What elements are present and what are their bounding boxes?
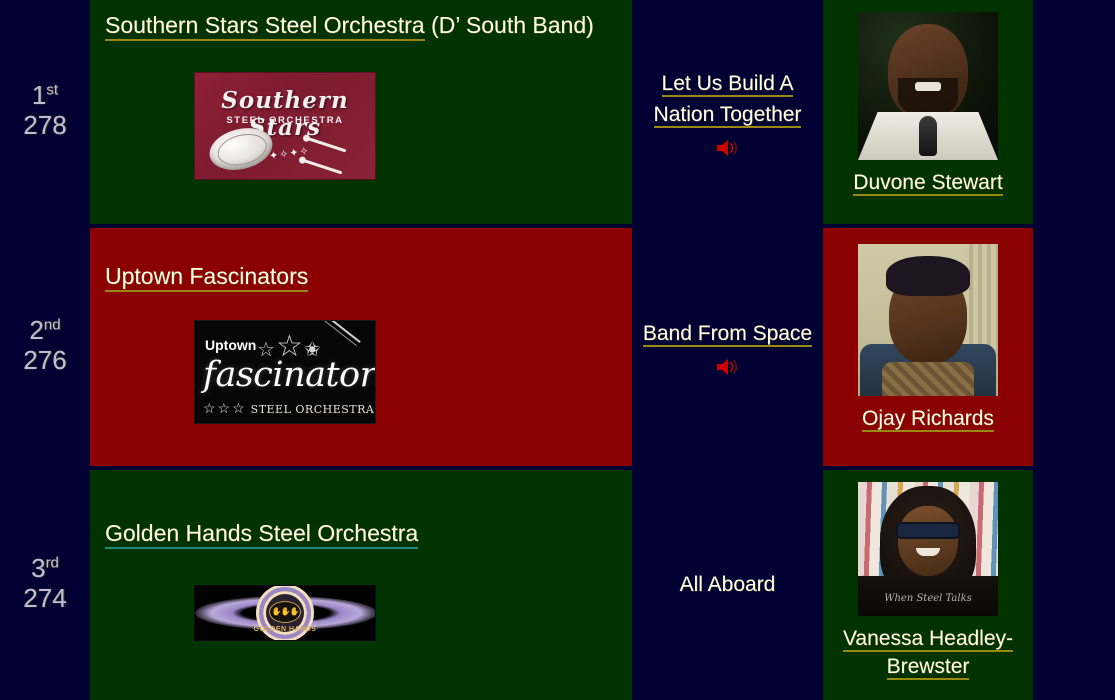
uptown-logo-main-text: fascinators	[203, 355, 376, 395]
tune-title-wrap-3: All Aboard	[680, 569, 776, 601]
golden-hands-logo-word: GOLDEN HANDS	[254, 626, 317, 633]
tune-title-3: All Aboard	[680, 573, 776, 596]
rank-score-1: 278	[23, 109, 66, 142]
speaker-icon[interactable]	[715, 139, 741, 157]
arranger-panel-2: Ojay Richards	[823, 228, 1033, 466]
band-name-3: Golden Hands Steel Orchestra	[105, 520, 418, 547]
streak-icon	[323, 320, 360, 343]
results-row-1: 1st 278 Southern Stars Steel Orchestra (…	[0, 0, 1115, 224]
results-row-3: 3rd 274 Golden Hands Steel Orchestra ✋✋✋…	[0, 470, 1115, 700]
southern-stars-logo: Southern Stars STEEL ORCHESTRA ✦✧✦✧	[194, 72, 376, 180]
rank-place-2: 2nd	[29, 317, 60, 344]
duvone-stewart-photo	[858, 12, 998, 160]
arranger-name-wrap-1: Duvone Stewart	[853, 169, 1002, 197]
arranger-name-wrap-3: Vanessa Headley-Brewster	[828, 625, 1028, 682]
band-name-link-3[interactable]: Golden Hands Steel Orchestra	[105, 520, 418, 549]
sunglasses-icon	[896, 522, 960, 539]
uptown-logo-bottom-text: STEEL ORCHESTRA	[251, 403, 375, 416]
uptown-fascinators-logo: Uptown ☆☆✬ fascinators ☆☆☆ STEEL ORCHEST…	[194, 320, 376, 424]
results-board: 1st 278 Southern Stars Steel Orchestra (…	[0, 0, 1115, 700]
tune-title-2[interactable]: Band From Space	[643, 322, 812, 347]
arranger-name-wrap-2: Ojay Richards	[862, 405, 994, 433]
rank-place-3: 3rd	[31, 555, 59, 582]
band-name-suffix-1: (D’ South Band)	[425, 12, 594, 38]
rank-score-3: 274	[23, 582, 66, 615]
drumstick-icon	[302, 159, 343, 175]
band-panel-2: Uptown Fascinators Uptown ☆☆✬ fascinator…	[90, 228, 632, 466]
hands-icon: ✋✋✋	[270, 602, 300, 622]
band-panel-3: Golden Hands Steel Orchestra ✋✋✋ GOLDEN …	[90, 470, 632, 700]
band-panel-1: Southern Stars Steel Orchestra (D’ South…	[90, 0, 632, 224]
rank-place-number: 3	[31, 553, 45, 583]
rank-place-number: 2	[29, 315, 43, 345]
tune-title-1[interactable]: Let Us Build A Nation Together	[654, 72, 802, 129]
tune-column-1: Let Us Build A Nation Together	[632, 0, 823, 224]
stars-icon: ☆☆☆	[203, 401, 247, 417]
photo-hair	[886, 256, 970, 296]
rank-column-2: 2nd 276	[0, 228, 90, 466]
band-name-link-2[interactable]: Uptown Fascinators	[105, 263, 308, 292]
photo-face	[898, 506, 958, 576]
arranger-name-3[interactable]: Vanessa Headley-Brewster	[843, 627, 1013, 680]
rank-place-suffix: nd	[44, 316, 61, 333]
ojay-richards-photo	[858, 244, 998, 396]
tune-column-3: All Aboard	[632, 470, 823, 700]
rank-column-3: 3rd 274	[0, 470, 90, 700]
band-name-link-1[interactable]: Southern Stars Steel Orchestra	[105, 12, 425, 41]
rank-column-1: 1st 278	[0, 0, 90, 224]
rank-score-2: 276	[23, 344, 66, 377]
golden-hands-logo: ✋✋✋ GOLDEN HANDS	[194, 585, 376, 641]
rank-place-suffix: st	[46, 81, 58, 98]
southern-stars-logo-script: Southern Stars	[195, 87, 375, 141]
rank-place-1: 1st	[32, 82, 58, 109]
tune-title-wrap-2: Band From Space	[643, 318, 812, 350]
band-name-2: Uptown Fascinators	[105, 263, 308, 290]
arranger-name-2[interactable]: Ojay Richards	[862, 407, 994, 432]
arranger-name-1[interactable]: Duvone Stewart	[853, 171, 1002, 196]
arranger-panel-1: Duvone Stewart	[823, 0, 1033, 224]
arranger-panel-3: When Steel Talks Vanessa Headley-Brewste…	[823, 470, 1033, 700]
rank-place-suffix: rd	[46, 554, 59, 571]
results-row-2: 2nd 276 Uptown Fascinators Uptown ☆☆✬ fa…	[0, 228, 1115, 466]
tune-title-wrap-1: Let Us Build A Nation Together	[632, 68, 823, 131]
rank-place-number: 1	[32, 80, 46, 110]
southern-stars-logo-subtitle: STEEL ORCHESTRA	[195, 115, 375, 126]
speaker-icon[interactable]	[715, 358, 741, 376]
uptown-logo-top-text: Uptown	[205, 337, 256, 353]
microphone-icon	[919, 116, 937, 156]
photo-watermark: When Steel Talks	[884, 593, 972, 604]
vanessa-headley-brewster-photo: When Steel Talks	[858, 482, 998, 616]
photo-smile	[915, 82, 941, 91]
uptown-logo-bottom: ☆☆☆ STEEL ORCHESTRA	[203, 401, 374, 417]
band-name-1: Southern Stars Steel Orchestra (D’ South…	[105, 12, 594, 39]
tune-column-2: Band From Space	[632, 228, 823, 466]
photo-shirt	[882, 362, 974, 396]
